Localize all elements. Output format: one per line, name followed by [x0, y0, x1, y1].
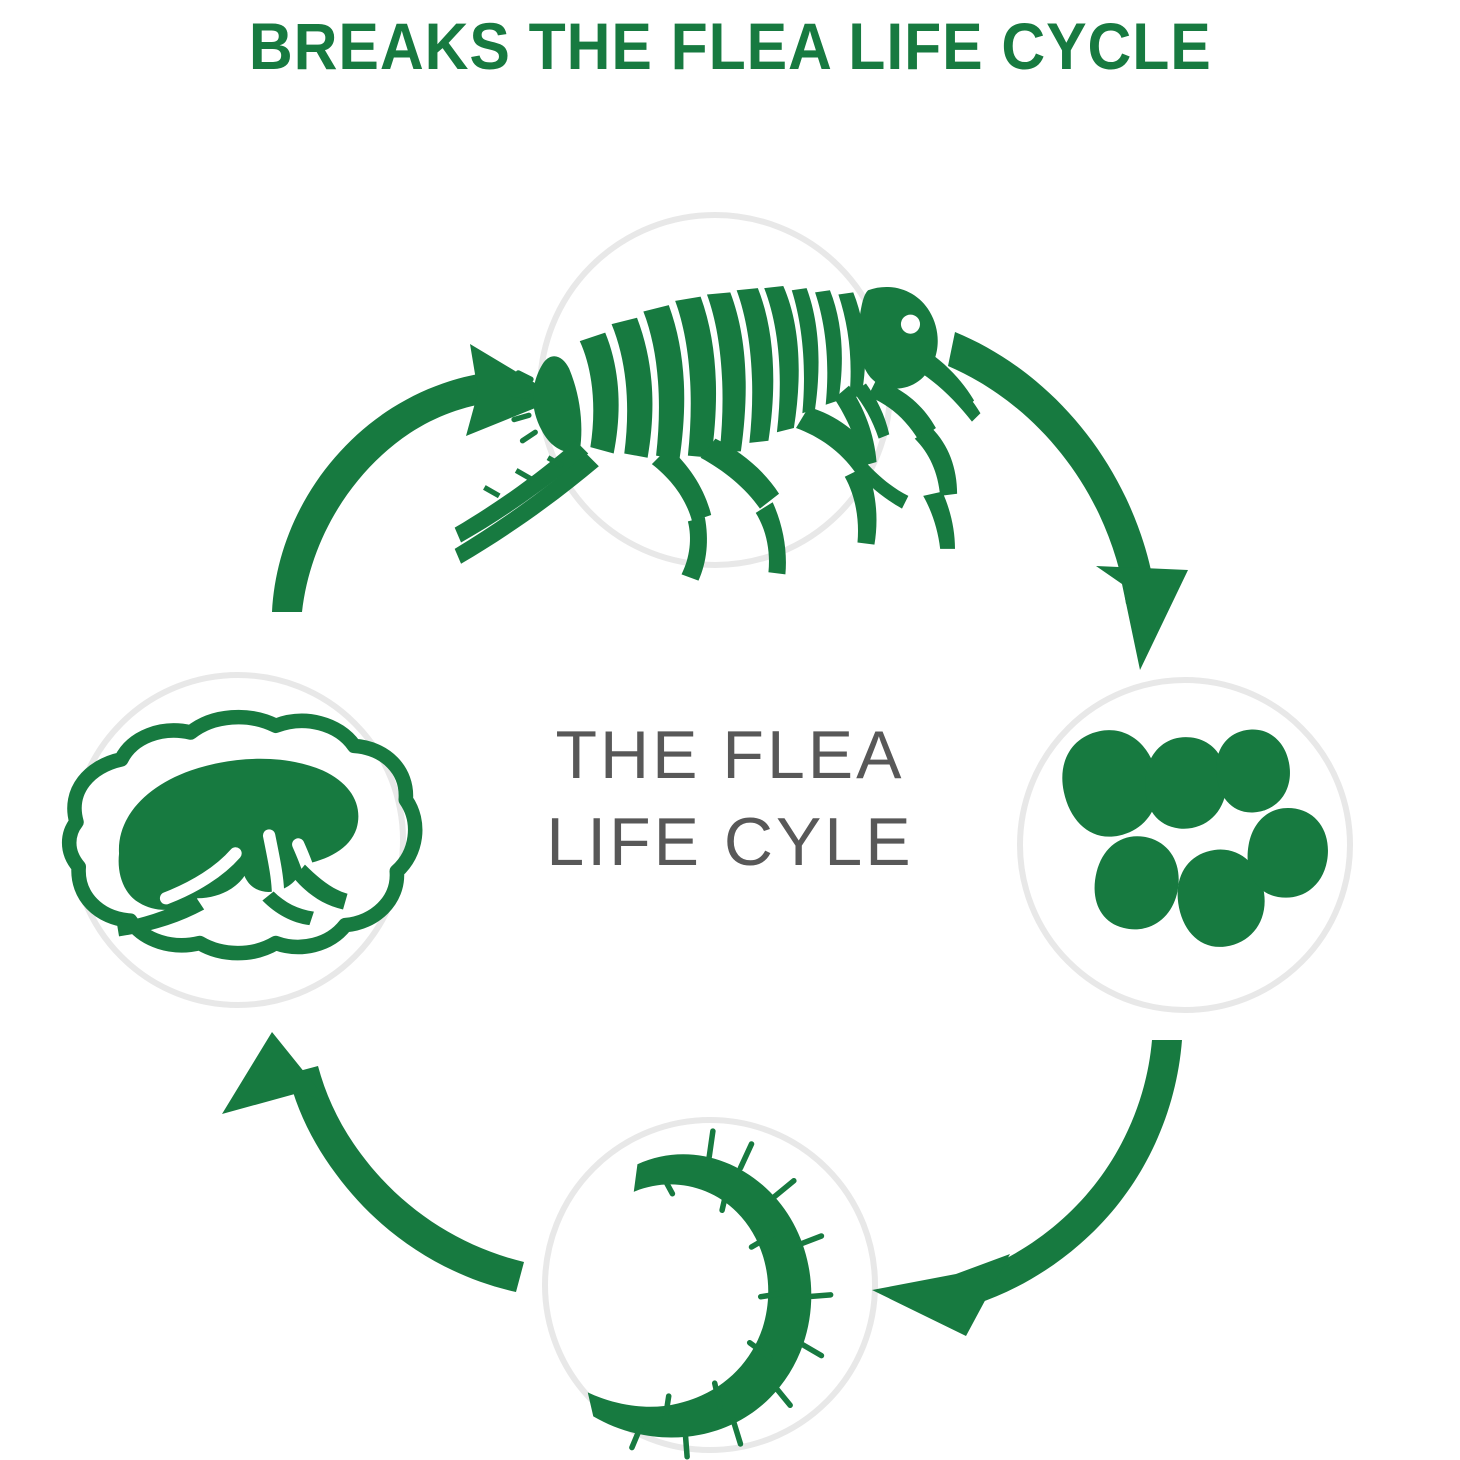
arrow-pupa-to-adult-flea — [272, 344, 560, 612]
flea-life-cycle-infographic: BREAKS THE FLEA LIFE CYCLE — [0, 0, 1460, 1460]
page-title: BREAKS THE FLEA LIFE CYCLE — [249, 13, 1212, 79]
arrow-larva-to-pupa — [222, 1032, 524, 1292]
cycle-diagram-canvas — [0, 92, 1460, 1460]
headline-banner: BREAKS THE FLEA LIFE CYCLE — [0, 0, 1460, 92]
arrow-eggs-to-larva — [872, 1040, 1182, 1336]
arrow-adult-flea-to-eggs — [948, 332, 1188, 670]
cycle-diagram: THE FLEA LIFE CYLE — [0, 92, 1460, 1460]
